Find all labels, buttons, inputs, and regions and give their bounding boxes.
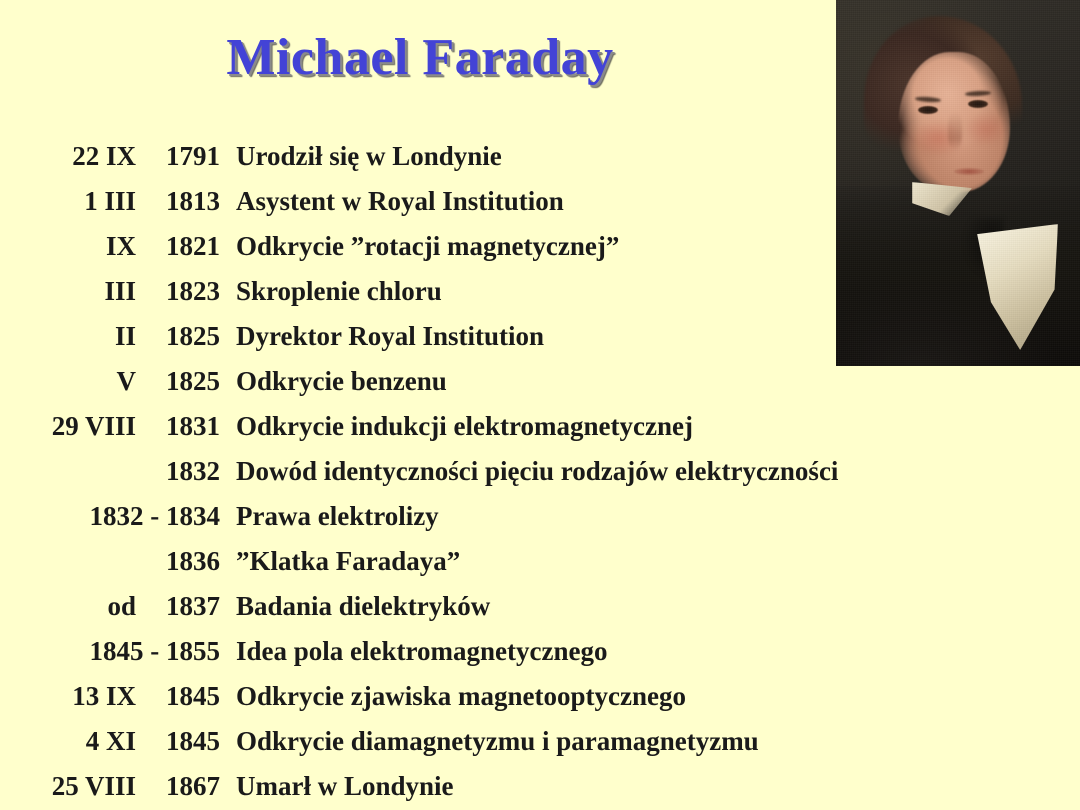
timeline-description: Dyrektor Royal Institution <box>236 314 1080 359</box>
table-row: 29 VIII1831Odkrycie indukcji elektromagn… <box>0 404 1080 449</box>
timeline-year: 1832 <box>136 449 236 494</box>
timeline-year: 1821 <box>136 224 236 269</box>
timeline-year: 1845 <box>136 719 236 764</box>
table-row: 1845 - 1855Idea pola elektromagnetyczneg… <box>0 629 1080 674</box>
timeline-description: Odkrycie diamagnetyzmu i paramagnetyzmu <box>236 719 1080 764</box>
timeline-date: 25 VIII <box>0 764 136 809</box>
timeline-table: 22 IX1791Urodził się w Londynie1 III1813… <box>0 134 1080 809</box>
timeline-year: 1837 <box>136 584 236 629</box>
timeline-date: od <box>0 584 136 629</box>
table-row: V1825Odkrycie benzenu <box>0 359 1080 404</box>
timeline-description: Dowód identyczności pięciu rodzajów elek… <box>236 449 1080 494</box>
timeline-year-range: 1832 - 1834 <box>0 494 236 539</box>
table-row: od1837Badania dielektryków <box>0 584 1080 629</box>
slide-root: Michael Faraday 22 IX1791Urodził się w L… <box>0 0 1080 810</box>
timeline-description: Odkrycie benzenu <box>236 359 1080 404</box>
timeline-year-range: 1845 - 1855 <box>0 629 236 674</box>
timeline-date: 13 IX <box>0 674 136 719</box>
timeline-year: 1836 <box>136 539 236 584</box>
timeline-date: II <box>0 314 136 359</box>
timeline-year: 1845 <box>136 674 236 719</box>
timeline-year: 1831 <box>136 404 236 449</box>
table-row: IX1821Odkrycie ”rotacji magnetycznej” <box>0 224 1080 269</box>
timeline-date: 4 XI <box>0 719 136 764</box>
table-row: 13 IX1845Odkrycie zjawiska magnetooptycz… <box>0 674 1080 719</box>
timeline-date: 29 VIII <box>0 404 136 449</box>
table-row: 1832Dowód identyczności pięciu rodzajów … <box>0 449 1080 494</box>
timeline-date: 1 III <box>0 179 136 224</box>
timeline-year: 1825 <box>136 314 236 359</box>
timeline-year: 1825 <box>136 359 236 404</box>
timeline-description: ”Klatka Faradaya” <box>236 539 1080 584</box>
timeline-description: Prawa elektrolizy <box>236 494 1080 539</box>
timeline-description: Idea pola elektromagnetycznego <box>236 629 1080 674</box>
timeline-date <box>0 539 136 584</box>
timeline-description: Asystent w Royal Institution <box>236 179 1080 224</box>
table-row: 22 IX1791Urodził się w Londynie <box>0 134 1080 179</box>
table-row: II1825Dyrektor Royal Institution <box>0 314 1080 359</box>
timeline-description: Odkrycie ”rotacji magnetycznej” <box>236 224 1080 269</box>
table-row: 4 XI1845Odkrycie diamagnetyzmu i paramag… <box>0 719 1080 764</box>
page-title: Michael Faraday <box>0 32 840 84</box>
table-row: 25 VIII1867Umarł w Londynie <box>0 764 1080 809</box>
timeline-date: IX <box>0 224 136 269</box>
timeline-year: 1867 <box>136 764 236 809</box>
timeline-description: Odkrycie zjawiska magnetooptycznego <box>236 674 1080 719</box>
timeline-date: III <box>0 269 136 314</box>
table-row: 1 III1813Asystent w Royal Institution <box>0 179 1080 224</box>
timeline-description: Odkrycie indukcji elektromagnetycznej <box>236 404 1080 449</box>
timeline-year: 1813 <box>136 179 236 224</box>
timeline-date: V <box>0 359 136 404</box>
timeline-description: Skroplenie chloru <box>236 269 1080 314</box>
table-row: 1832 - 1834Prawa elektrolizy <box>0 494 1080 539</box>
timeline-description: Urodził się w Londynie <box>236 134 1080 179</box>
timeline-date: 22 IX <box>0 134 136 179</box>
portrait-eye-right <box>968 100 988 108</box>
portrait-eye-left <box>918 106 938 114</box>
table-row: 1836”Klatka Faradaya” <box>0 539 1080 584</box>
table-row: III1823Skroplenie chloru <box>0 269 1080 314</box>
timeline-year: 1823 <box>136 269 236 314</box>
timeline-description: Umarł w Londynie <box>236 764 1080 809</box>
timeline-date <box>0 449 136 494</box>
timeline-description: Badania dielektryków <box>236 584 1080 629</box>
timeline-year: 1791 <box>136 134 236 179</box>
